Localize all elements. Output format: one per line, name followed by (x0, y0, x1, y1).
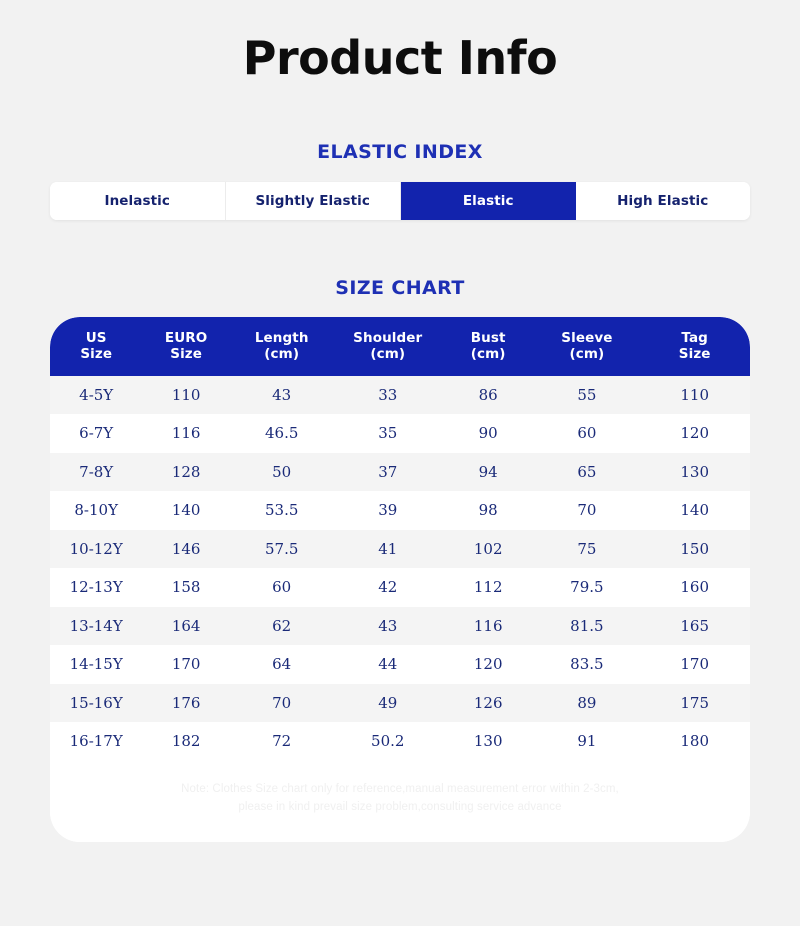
table-cell: 6-7Y (50, 414, 142, 453)
table-cell: 50 (230, 453, 334, 492)
table-cell: 60 (230, 568, 334, 607)
table-cell: 79.5 (534, 568, 639, 607)
size-chart-card: USSizeEUROSizeLength(cm)Shoulder(cm)Bust… (50, 317, 750, 843)
table-cell: 55 (534, 376, 639, 415)
column-header-line1: Shoulder (335, 330, 440, 346)
table-cell: 140 (639, 491, 750, 530)
column-header-line2: (cm) (232, 346, 332, 362)
table-cell: 33 (333, 376, 442, 415)
note-line-2: please in kind prevail size problem,cons… (90, 799, 710, 817)
elastic-tab-high-elastic[interactable]: High Elastic (576, 182, 751, 220)
table-cell: 180 (639, 722, 750, 761)
table-row: 6-7Y11646.5359060120 (50, 414, 750, 453)
column-header-line2: Size (641, 346, 748, 362)
column-header-2: Length(cm) (230, 317, 334, 376)
table-cell: 170 (639, 645, 750, 684)
table-cell: 42 (333, 568, 442, 607)
table-cell: 160 (639, 568, 750, 607)
elastic-tab-slightly-elastic[interactable]: Slightly Elastic (226, 182, 402, 220)
elastic-tab-inelastic[interactable]: Inelastic (50, 182, 226, 220)
table-cell: 8-10Y (50, 491, 142, 530)
column-header-line2: (cm) (444, 346, 532, 362)
table-cell: 170 (142, 645, 230, 684)
size-chart-note: Note: Clothes Size chart only for refere… (50, 761, 750, 843)
table-cell: 35 (333, 414, 442, 453)
table-cell: 60 (534, 414, 639, 453)
page-title: Product Info (0, 0, 800, 85)
table-cell: 130 (639, 453, 750, 492)
size-chart-body: 4-5Y110433386551106-7Y11646.53590601207-… (50, 376, 750, 761)
table-cell: 43 (333, 607, 442, 646)
elastic-tab-elastic[interactable]: Elastic (401, 182, 576, 220)
table-cell: 116 (142, 414, 230, 453)
elastic-index-tabbar: InelasticSlightly ElasticElasticHigh Ela… (50, 182, 750, 220)
table-row: 12-13Y158604211279.5160 (50, 568, 750, 607)
table-cell: 128 (142, 453, 230, 492)
column-header-4: Bust(cm) (442, 317, 534, 376)
table-cell: 39 (333, 491, 442, 530)
column-header-line2: (cm) (536, 346, 637, 362)
column-header-line1: Sleeve (536, 330, 637, 346)
table-cell: 158 (142, 568, 230, 607)
table-cell: 44 (333, 645, 442, 684)
table-cell: 62 (230, 607, 334, 646)
table-row: 7-8Y12850379465130 (50, 453, 750, 492)
table-cell: 75 (534, 530, 639, 569)
table-cell: 165 (639, 607, 750, 646)
table-cell: 12-13Y (50, 568, 142, 607)
column-header-3: Shoulder(cm) (333, 317, 442, 376)
size-chart-head: USSizeEUROSizeLength(cm)Shoulder(cm)Bust… (50, 317, 750, 376)
table-cell: 7-8Y (50, 453, 142, 492)
table-cell: 37 (333, 453, 442, 492)
table-cell: 91 (534, 722, 639, 761)
table-cell: 70 (230, 684, 334, 723)
table-cell: 182 (142, 722, 230, 761)
table-cell: 46.5 (230, 414, 334, 453)
table-cell: 81.5 (534, 607, 639, 646)
table-cell: 10-12Y (50, 530, 142, 569)
table-cell: 116 (442, 607, 534, 646)
table-cell: 150 (639, 530, 750, 569)
table-cell: 86 (442, 376, 534, 415)
note-line-1: Note: Clothes Size chart only for refere… (90, 781, 710, 799)
table-cell: 90 (442, 414, 534, 453)
table-cell: 53.5 (230, 491, 334, 530)
table-cell: 49 (333, 684, 442, 723)
table-cell: 43 (230, 376, 334, 415)
table-cell: 83.5 (534, 645, 639, 684)
table-cell: 110 (639, 376, 750, 415)
table-cell: 164 (142, 607, 230, 646)
table-cell: 120 (442, 645, 534, 684)
column-header-line1: Bust (444, 330, 532, 346)
column-header-line1: Tag (641, 330, 748, 346)
table-cell: 50.2 (333, 722, 442, 761)
column-header-line2: (cm) (335, 346, 440, 362)
size-chart-title: SIZE CHART (0, 277, 800, 299)
column-header-line2: Size (144, 346, 228, 362)
table-cell: 126 (442, 684, 534, 723)
column-header-1: EUROSize (142, 317, 230, 376)
table-row: 4-5Y11043338655110 (50, 376, 750, 415)
table-cell: 70 (534, 491, 639, 530)
table-header-row: USSizeEUROSizeLength(cm)Shoulder(cm)Bust… (50, 317, 750, 376)
table-cell: 57.5 (230, 530, 334, 569)
elastic-index-title: ELASTIC INDEX (0, 141, 800, 163)
column-header-line1: US (52, 330, 140, 346)
table-cell: 72 (230, 722, 334, 761)
table-row: 8-10Y14053.5399870140 (50, 491, 750, 530)
table-cell: 89 (534, 684, 639, 723)
table-cell: 120 (639, 414, 750, 453)
column-header-line1: EURO (144, 330, 228, 346)
table-cell: 146 (142, 530, 230, 569)
column-header-6: TagSize (639, 317, 750, 376)
table-row: 13-14Y164624311681.5165 (50, 607, 750, 646)
table-cell: 14-15Y (50, 645, 142, 684)
column-header-5: Sleeve(cm) (534, 317, 639, 376)
table-cell: 98 (442, 491, 534, 530)
column-header-0: USSize (50, 317, 142, 376)
table-row: 14-15Y170644412083.5170 (50, 645, 750, 684)
table-cell: 4-5Y (50, 376, 142, 415)
table-cell: 130 (442, 722, 534, 761)
table-cell: 16-17Y (50, 722, 142, 761)
table-row: 15-16Y176704912689175 (50, 684, 750, 723)
table-cell: 65 (534, 453, 639, 492)
table-cell: 15-16Y (50, 684, 142, 723)
table-cell: 94 (442, 453, 534, 492)
table-cell: 13-14Y (50, 607, 142, 646)
table-row: 10-12Y14657.54110275150 (50, 530, 750, 569)
table-cell: 41 (333, 530, 442, 569)
table-cell: 102 (442, 530, 534, 569)
table-cell: 112 (442, 568, 534, 607)
table-cell: 176 (142, 684, 230, 723)
size-chart-table: USSizeEUROSizeLength(cm)Shoulder(cm)Bust… (50, 317, 750, 761)
column-header-line2: Size (52, 346, 140, 362)
table-cell: 110 (142, 376, 230, 415)
column-header-line1: Length (232, 330, 332, 346)
table-row: 16-17Y1827250.213091180 (50, 722, 750, 761)
table-cell: 175 (639, 684, 750, 723)
table-cell: 140 (142, 491, 230, 530)
table-cell: 64 (230, 645, 334, 684)
